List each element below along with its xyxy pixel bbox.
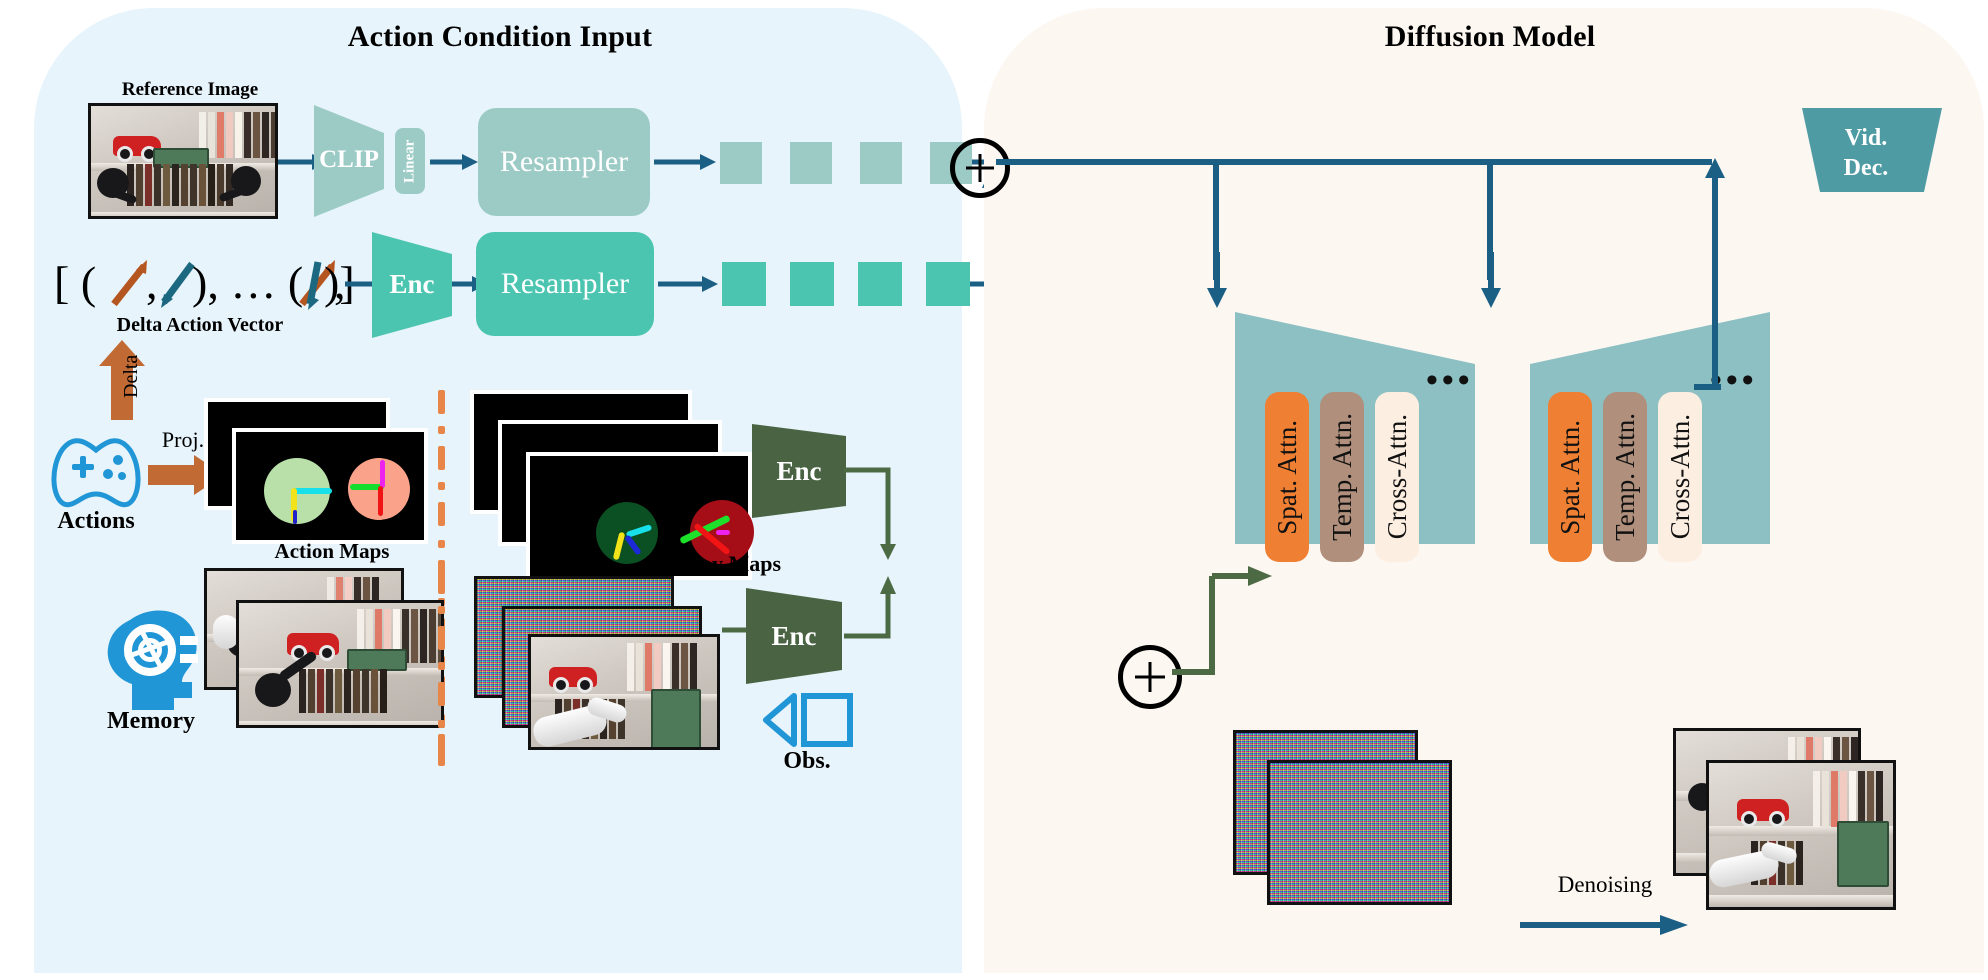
action-map-front [232, 428, 428, 544]
cross-attn-2: Cross-Attn. [1658, 392, 1702, 562]
action-token-3 [858, 262, 902, 306]
denoising-label: Denoising [1520, 872, 1690, 897]
gamepad-icon [48, 432, 144, 508]
image-token-3 [860, 142, 902, 184]
unet-block-1-ellipsis: ••• [1426, 362, 1474, 400]
temp-attn-2: Temp. Attn. [1603, 392, 1647, 562]
arrow-sum-to-unet1 [1168, 500, 1288, 680]
image-token-1 [720, 142, 762, 184]
arrow-enc-maps-to-sum [840, 462, 910, 558]
memory-icon-label: Memory [76, 708, 226, 734]
action-token-1 [722, 262, 766, 306]
spat-attn-2-label: Spat. Attn. [1555, 420, 1586, 535]
cross-attn-1: Cross-Attn. [1375, 392, 1419, 562]
arrow-linear-to-resampler [430, 150, 478, 174]
svg-text:,: , [146, 257, 158, 308]
arrow-cond-to-crossattn-1 [1197, 252, 1237, 308]
diffusion-bus-lines [996, 150, 1896, 290]
denoised-frame-front [1706, 760, 1896, 910]
arrow-resampler-to-tokens-image [654, 150, 716, 174]
denoising-arrow [1520, 912, 1688, 938]
arrow-cond-to-crossattn-2 [1471, 252, 1511, 308]
left-panel-title: Action Condition Input [180, 20, 820, 54]
arrow-enc-obs-to-sum [840, 570, 910, 680]
unet2-out-elbow [1694, 378, 1750, 396]
clip-label: CLIP [314, 140, 384, 180]
actions-icon-label: Actions [32, 508, 160, 534]
resampler-action-label: Resampler [476, 232, 654, 336]
cross-attn-2-label: Cross-Attn. [1665, 414, 1696, 539]
ray-maps-label: && Ray Maps [612, 552, 812, 576]
image-token-2 [790, 142, 832, 184]
resampler-image-label: Resampler [478, 108, 650, 216]
cross-attn-1-label: Cross-Attn. [1382, 414, 1413, 539]
right-panel-title: Diffusion Model [1180, 20, 1800, 54]
video-decoder-label-line1: Vid. [1845, 123, 1887, 153]
arrow-unet2-out [1694, 226, 1754, 386]
temp-attn-1: Temp. Attn. [1320, 392, 1364, 562]
enc-action-label: Enc [372, 262, 452, 306]
enc-obs-label: Enc [746, 614, 842, 658]
temp-attn-1-label: Temp. Attn. [1327, 413, 1358, 541]
obs-icon-label: Obs. [752, 748, 862, 774]
memory-photo-front [236, 600, 444, 728]
arrow-resampler-to-tokens-action [658, 272, 718, 296]
reference-image-label: Reference Image [80, 80, 300, 101]
noisy-frame-front [1267, 760, 1452, 905]
action-token-2 [790, 262, 834, 306]
action-token-4 [926, 262, 970, 306]
spat-attn-2: Spat. Attn. [1548, 392, 1592, 562]
reference-image-photo [88, 103, 278, 219]
linear-label: Linear [395, 128, 425, 194]
enc-maps-label: Enc [752, 450, 846, 492]
action-maps-label: Action Maps [232, 540, 432, 563]
camera-icon [764, 690, 854, 750]
svg-text:), … (: ), … ( [192, 257, 303, 308]
video-decoder-label-line2: Dec. [1844, 153, 1889, 183]
svg-text:[ (: [ ( [54, 257, 96, 308]
obs-photo-front [528, 634, 720, 750]
temp-attn-2-label: Temp. Attn. [1610, 413, 1641, 541]
memory-brain-icon [96, 606, 208, 710]
divider-dashed-left-lower [438, 570, 446, 770]
delta-action-vector-label: Delta Action Vector [60, 314, 340, 336]
delta-arrow-label: Delta [120, 340, 146, 412]
diagram-canvas: Action Condition Input Reference Image [0, 0, 1988, 980]
video-decoder-label-wrap: Vid. Dec. [1790, 118, 1942, 188]
